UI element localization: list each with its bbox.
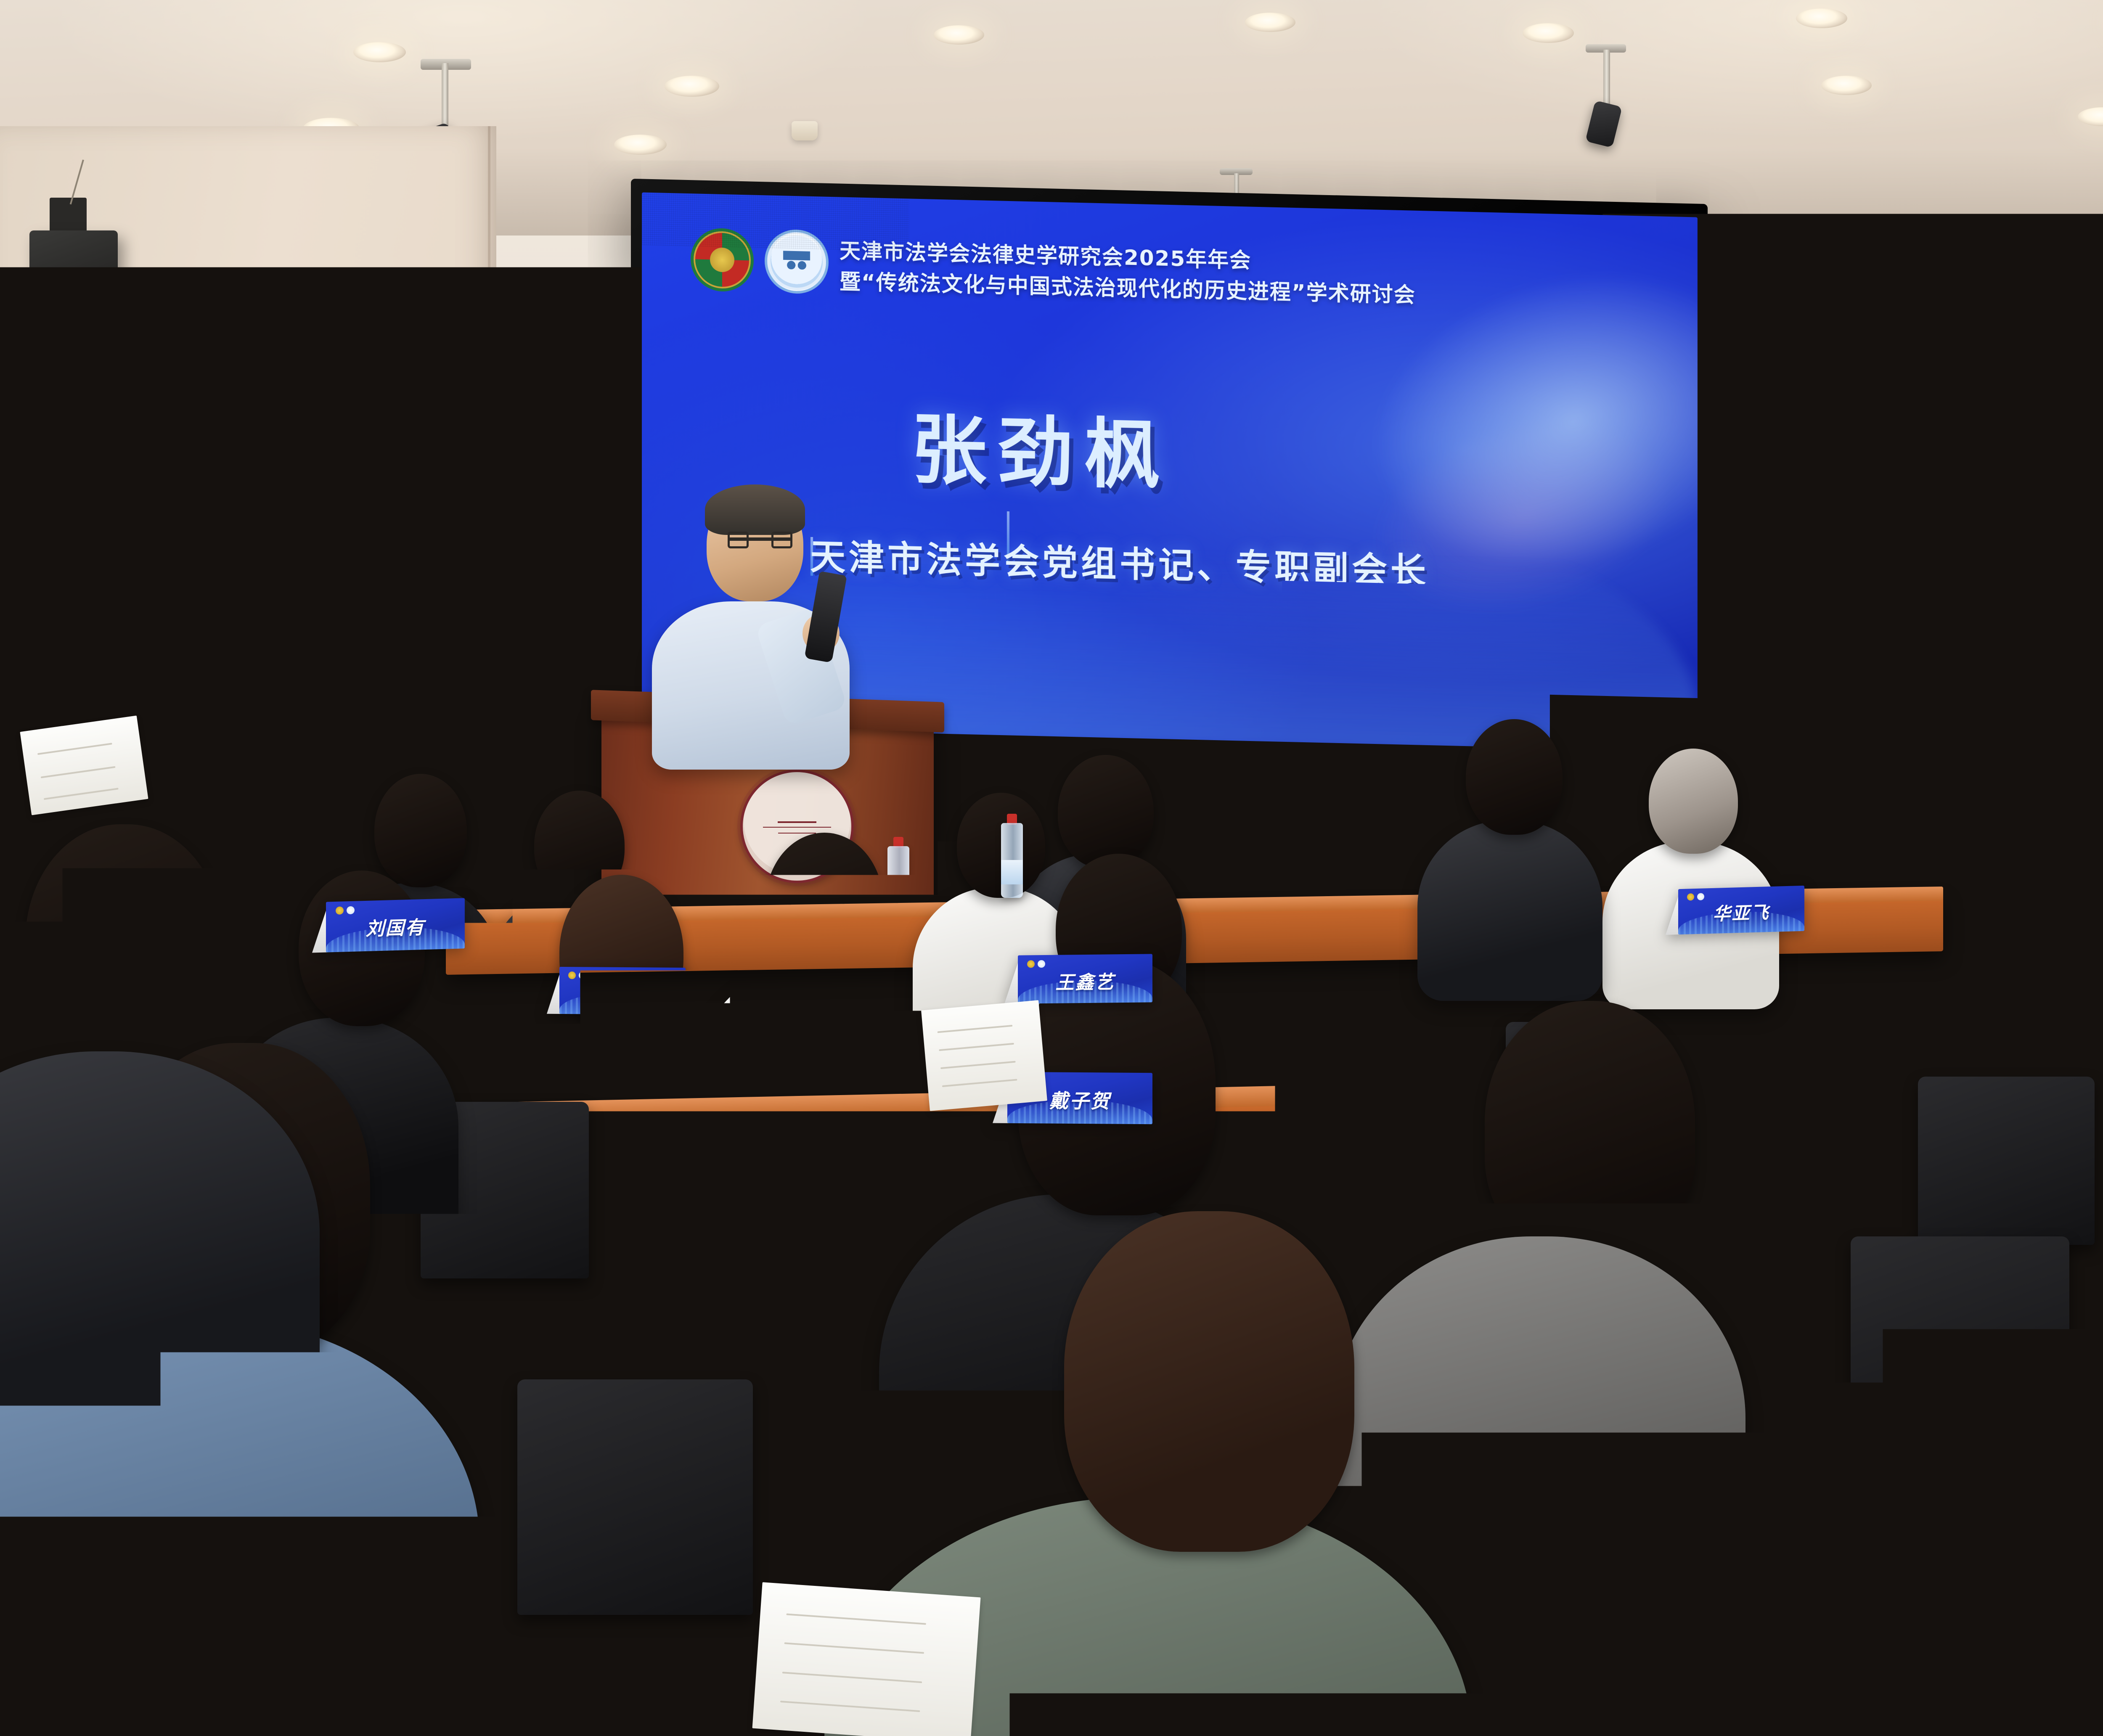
cabinet-top bbox=[0, 658, 177, 675]
nameplate-face: 夏令蓝 bbox=[1920, 985, 2065, 1037]
nameplate-name: 王鑫艺 bbox=[1018, 966, 1152, 995]
law-society-dot-icon bbox=[660, 1098, 669, 1107]
downlight-icon bbox=[1245, 13, 1295, 32]
conference-room-photo: 12 1 2 3 4 5 6 7 8 9 10 11 bbox=[0, 0, 2103, 1736]
nameplate: 华亚飞 bbox=[1678, 886, 1804, 934]
nameplate-face: 吴洪帅 bbox=[650, 1089, 797, 1146]
nameplate-face: 王鑫艺 bbox=[1018, 954, 1152, 1003]
speaker-bracket bbox=[50, 198, 87, 235]
speaker-icon bbox=[1872, 307, 1931, 408]
clock-icon: 12 1 2 3 4 5 6 7 8 9 10 11 bbox=[248, 294, 353, 400]
university-dot-icon bbox=[1038, 960, 1045, 967]
downlight-icon bbox=[665, 76, 719, 97]
law-society-dot-icon bbox=[1027, 960, 1035, 968]
downlight-icon bbox=[1821, 76, 1872, 95]
document-icon bbox=[1913, 1428, 2103, 1617]
speaker-bracket bbox=[1888, 294, 1913, 312]
law-society-dot-icon bbox=[1687, 893, 1694, 900]
wall-notice-board bbox=[1928, 458, 1996, 555]
glasses-icon bbox=[728, 537, 792, 541]
law-society-dot-icon bbox=[1990, 1293, 2002, 1305]
speaker-presenter bbox=[631, 475, 900, 736]
downlight-icon bbox=[353, 42, 406, 62]
downlight-icon bbox=[934, 25, 984, 45]
university-dot-icon bbox=[672, 1098, 680, 1106]
nameplate-name: 董诗鹏 bbox=[559, 979, 686, 1006]
law-society-dot-icon bbox=[1770, 828, 1776, 834]
thermos-bottle bbox=[307, 862, 345, 967]
document-icon bbox=[20, 715, 148, 815]
speaker-hair bbox=[705, 484, 805, 535]
nameplate-name: 刘国有 bbox=[326, 911, 465, 942]
chair bbox=[517, 1379, 753, 1615]
document-icon bbox=[921, 1000, 1047, 1111]
nameplate: 董诗鹏 bbox=[559, 967, 686, 1015]
cup-icon bbox=[1825, 828, 1866, 876]
cup-icon bbox=[244, 913, 290, 965]
nameplate-name: 夏令蓝 bbox=[1920, 998, 2065, 1028]
university-dot-icon bbox=[2005, 1293, 2018, 1305]
speaker-icon bbox=[29, 230, 118, 394]
nameplate-name: 王 扬 bbox=[246, 993, 368, 1021]
university-dot-icon bbox=[579, 971, 586, 979]
law-society-dot-icon bbox=[1930, 992, 1938, 1000]
nameplate-logos bbox=[660, 1098, 680, 1106]
nameplate-logos bbox=[568, 971, 586, 979]
projector-device bbox=[143, 673, 269, 723]
nameplate-face: 王 扬 bbox=[246, 981, 368, 1029]
nameplate-logos bbox=[254, 987, 273, 995]
university-dot-icon bbox=[347, 906, 355, 915]
nameplate-face: 王宇杰 bbox=[1975, 1283, 2103, 1362]
projector-mount-pole bbox=[1603, 50, 1610, 111]
nameplate-logos bbox=[1990, 1293, 2018, 1306]
university-dot-icon bbox=[265, 987, 273, 995]
nameplate-logos bbox=[1930, 992, 1949, 1000]
university-dot-icon bbox=[1779, 828, 1785, 834]
document-icon bbox=[2028, 859, 2103, 941]
nameplate: 吴洪帅 bbox=[650, 1089, 797, 1146]
law-society-dot-icon bbox=[568, 971, 576, 979]
nameplate-face: 华亚飞 bbox=[1678, 886, 1804, 934]
nameplate-logos bbox=[1770, 828, 1785, 834]
nameplate-name: 吴洪帅 bbox=[650, 1103, 797, 1137]
downlight-icon bbox=[1523, 23, 1574, 43]
clock-center-pin bbox=[298, 344, 304, 350]
university-dot-icon bbox=[1941, 992, 1949, 1000]
university-dot-icon bbox=[1697, 893, 1704, 900]
nameplate: 刘国有 bbox=[326, 898, 465, 952]
nameplate-face: 董诗鹏 bbox=[559, 967, 686, 1015]
downlight-icon bbox=[614, 135, 667, 155]
nameplate-logos bbox=[1687, 893, 1704, 900]
light-switch[interactable] bbox=[1792, 454, 1807, 474]
nameplate: 王鑫艺 bbox=[1018, 954, 1152, 1003]
nameplate-face: 刘国有 bbox=[326, 898, 465, 952]
bottle-icon bbox=[1001, 814, 1023, 898]
bottle-icon bbox=[887, 837, 909, 921]
nameplate-logos bbox=[1027, 960, 1045, 967]
nameplate: 王 扬 bbox=[246, 981, 368, 1029]
law-society-dot-icon bbox=[254, 987, 262, 995]
smoke-detector-icon bbox=[792, 121, 818, 140]
bottle-icon bbox=[1279, 812, 1302, 902]
downlight-icon bbox=[1796, 8, 1847, 28]
document-icon bbox=[752, 1582, 980, 1736]
nameplate: 王宇杰 bbox=[1975, 1283, 2103, 1362]
nameplate-name: 华亚飞 bbox=[1678, 897, 1804, 926]
table-leg bbox=[753, 1178, 776, 1321]
nameplate-name: 王宇杰 bbox=[1975, 1303, 2103, 1353]
nameplate: 夏令蓝 bbox=[1920, 985, 2065, 1037]
